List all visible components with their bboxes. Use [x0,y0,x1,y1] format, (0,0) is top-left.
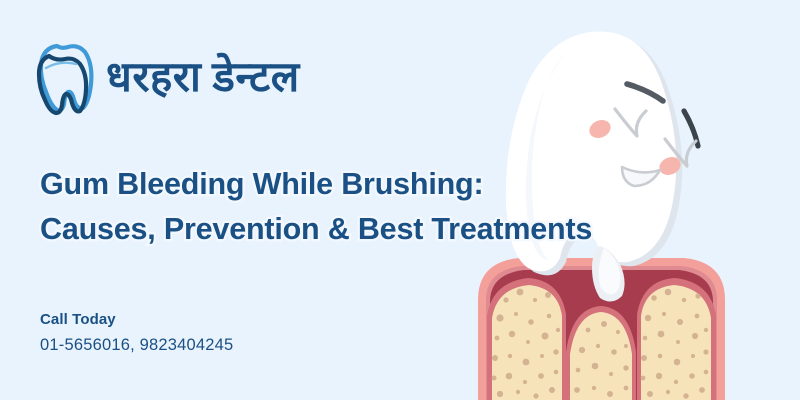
call-today-label: Call Today [40,310,233,330]
brand-logo[interactable]: धरहरा डेन्टल [34,40,300,116]
phone-numbers[interactable]: 01-5656016, 9823404245 [40,333,233,358]
dental-banner: धरहरा डेन्टल Gum Bleeding While Brushing… [0,0,800,400]
contact-block: Call Today 01-5656016, 9823404245 [40,310,233,358]
headline-line-1: Gum Bleeding While Brushing: [40,162,592,207]
brand-name: धरहरा डेन्टल [106,57,300,99]
tooth-logo-icon [34,40,96,116]
page-title: Gum Bleeding While Brushing: Causes, Pre… [40,162,592,252]
headline-line-2: Causes, Prevention & Best Treatments [40,207,592,252]
